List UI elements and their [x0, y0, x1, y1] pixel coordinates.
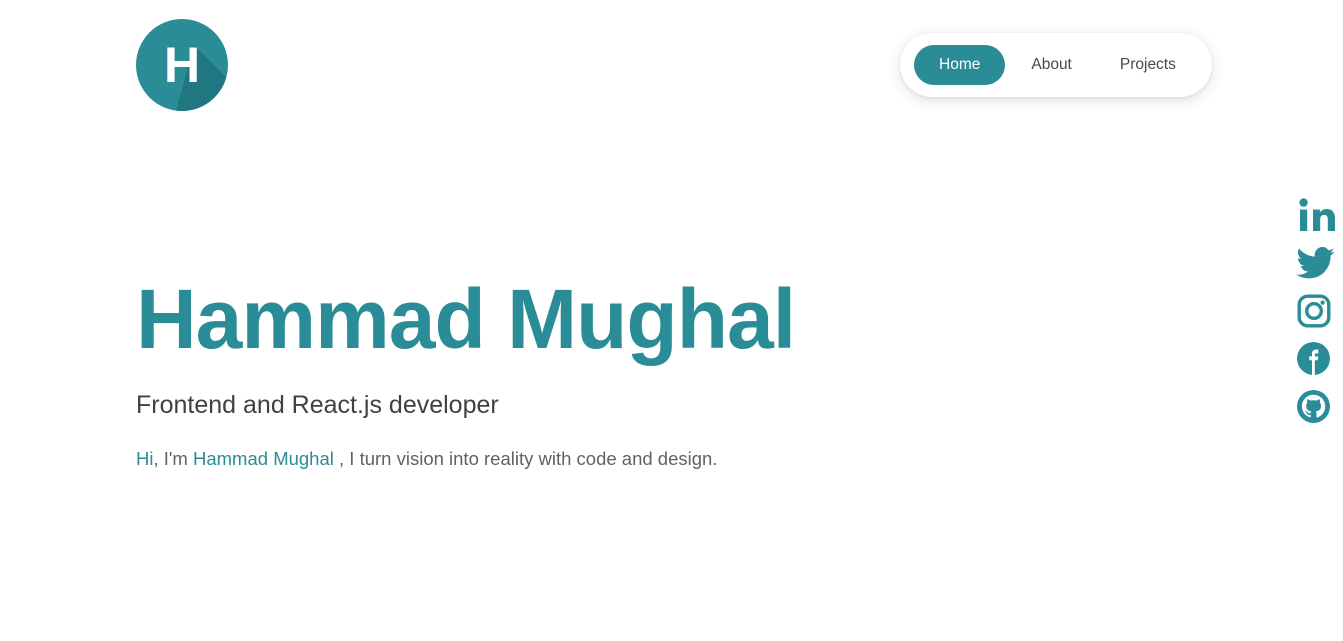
tagline-part-two: , I turn vision into reality with code a…: [334, 448, 718, 469]
nav-item-about[interactable]: About: [1009, 45, 1094, 85]
social-link-github[interactable]: [1297, 390, 1341, 423]
portfolio-landing-page: H Home About Projects Hammad Mughal Fron…: [0, 0, 1343, 641]
hero-section: Hammad Mughal Frontend and React.js deve…: [136, 275, 1136, 471]
facebook-icon: [1297, 342, 1330, 375]
tagline-name: Hammad Mughal: [193, 448, 334, 469]
circle-letter-h-logo[interactable]: H: [136, 19, 228, 111]
hero-subtitle: Frontend and React.js developer: [136, 390, 1136, 421]
tagline-part-one: , I'm: [153, 448, 193, 469]
social-links-rail: [1297, 198, 1343, 423]
linkedin-icon: [1297, 198, 1337, 231]
site-header: H Home About Projects: [0, 0, 1343, 130]
hero-tagline: Hi, I'm Hammad Mughal , I turn vision in…: [136, 447, 1136, 471]
nav-item-home[interactable]: Home: [914, 45, 1005, 85]
social-link-facebook[interactable]: [1297, 342, 1341, 375]
social-link-twitter[interactable]: [1297, 246, 1341, 279]
social-link-linkedin[interactable]: [1297, 198, 1341, 231]
instagram-icon: [1297, 294, 1331, 328]
twitter-icon: [1297, 247, 1335, 279]
page-title: Hammad Mughal: [136, 275, 1136, 364]
nav-item-projects[interactable]: Projects: [1098, 45, 1198, 85]
tagline-greeting: Hi: [136, 448, 153, 469]
social-link-instagram[interactable]: [1297, 294, 1341, 327]
logo-letter: H: [136, 19, 228, 111]
github-icon: [1297, 390, 1330, 423]
primary-nav: Home About Projects: [900, 33, 1212, 97]
